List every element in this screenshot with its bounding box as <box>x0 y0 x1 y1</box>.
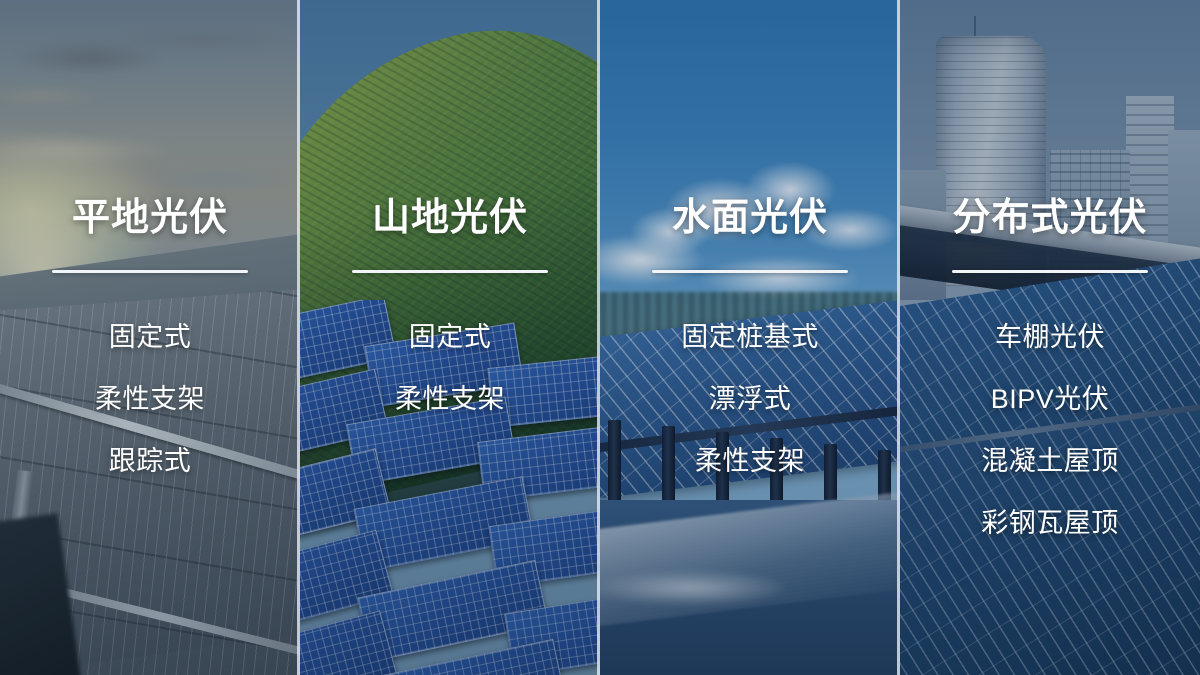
title-divider-rule <box>952 270 1148 273</box>
panel-flat-ground-pv[interactable]: 平地光伏 固定式 柔性支架 跟踪式 <box>0 0 300 675</box>
panel-item-list: 车棚光伏 BIPV光伏 混凝土屋顶 彩钢瓦屋顶 <box>900 320 1200 540</box>
list-item[interactable]: BIPV光伏 <box>991 382 1110 416</box>
title-divider-rule <box>52 270 248 273</box>
list-item[interactable]: 跟踪式 <box>109 444 192 478</box>
list-item[interactable]: 车棚光伏 <box>995 320 1105 354</box>
panel-water-surface-pv[interactable]: 水面光伏 固定桩基式 漂浮式 柔性支架 <box>600 0 900 675</box>
panel-item-list: 固定式 柔性支架 跟踪式 <box>0 320 300 478</box>
title-divider-rule <box>652 270 848 273</box>
list-item[interactable]: 柔性支架 <box>395 382 505 416</box>
panel-mountain-pv[interactable]: 山地光伏 固定式 柔性支架 <box>300 0 600 675</box>
panel-item-list: 固定桩基式 漂浮式 柔性支架 <box>600 320 900 478</box>
list-item[interactable]: 漂浮式 <box>709 382 792 416</box>
panel-2-content: 山地光伏 固定式 柔性支架 <box>300 0 600 675</box>
panel-title: 分布式光伏 <box>900 196 1200 240</box>
title-divider-rule <box>352 270 548 273</box>
panel-1-content: 平地光伏 固定式 柔性支架 跟踪式 <box>0 0 300 675</box>
panel-distributed-pv[interactable]: 分布式光伏 车棚光伏 BIPV光伏 混凝土屋顶 彩钢瓦屋顶 <box>900 0 1200 675</box>
list-item[interactable]: 固定桩基式 <box>681 320 819 354</box>
list-item[interactable]: 固定式 <box>409 320 492 354</box>
panel-title: 平地光伏 <box>0 196 300 240</box>
list-item[interactable]: 柔性支架 <box>95 382 205 416</box>
panel-3-content: 水面光伏 固定桩基式 漂浮式 柔性支架 <box>600 0 900 675</box>
panel-title: 水面光伏 <box>600 196 900 240</box>
panel-item-list: 固定式 柔性支架 <box>300 320 600 416</box>
photovoltaic-category-banner: 平地光伏 固定式 柔性支架 跟踪式 <box>0 0 1200 675</box>
panel-title: 山地光伏 <box>300 196 600 240</box>
list-item[interactable]: 混凝土屋顶 <box>981 444 1119 478</box>
list-item[interactable]: 固定式 <box>109 320 192 354</box>
list-item[interactable]: 柔性支架 <box>695 444 805 478</box>
list-item[interactable]: 彩钢瓦屋顶 <box>981 506 1119 540</box>
panel-4-content: 分布式光伏 车棚光伏 BIPV光伏 混凝土屋顶 彩钢瓦屋顶 <box>900 0 1200 675</box>
